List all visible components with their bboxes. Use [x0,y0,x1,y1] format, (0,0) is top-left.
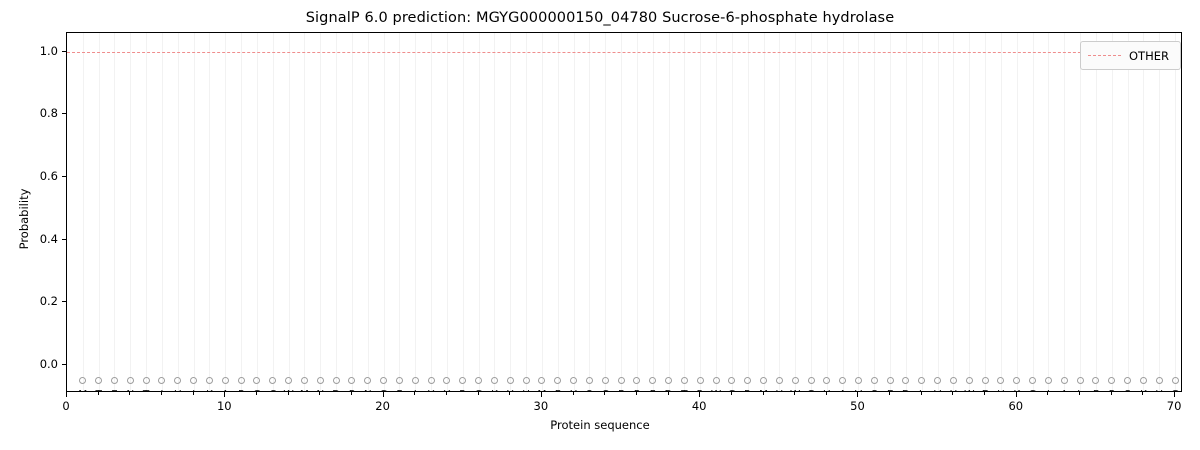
residue-marker [618,377,625,384]
gridline [938,33,939,391]
residue-marker [950,377,957,384]
residue-marker [697,377,704,384]
gridline [1080,33,1081,391]
legend-swatch-other [1088,55,1121,56]
gridline [304,33,305,391]
residue-marker [728,377,735,384]
residue-marker [1029,377,1036,384]
x-tick-label: 70 [1167,399,1182,413]
residue-marker [1156,377,1163,384]
residue-letter: V [855,390,862,392]
x-tick-minor [319,392,320,395]
residue-marker [459,377,466,384]
gridline [1048,33,1049,391]
x-tick-minor [573,392,574,395]
x-tick-minor [478,392,479,395]
x-tick-mark [699,392,700,397]
residue-marker [412,377,419,384]
residue-marker [380,377,387,384]
x-tick-minor [826,392,827,395]
residue-marker [79,377,86,384]
residue-letter: D [664,390,672,392]
x-tick-label: 20 [375,399,390,413]
gridline [114,33,115,391]
residue-marker [744,377,751,384]
gridline [194,33,195,391]
gridline [1033,33,1034,391]
gridline [415,33,416,391]
residue-letter: M [78,390,87,392]
y-tick-mark [62,239,66,240]
residue-letter: G [1029,390,1037,392]
residue-marker [1108,377,1115,384]
residue-letter: Y [570,390,576,392]
residue-letter: G [474,390,482,392]
residue-letter: M [759,390,768,392]
residue-marker [839,377,846,384]
y-tick-mark [62,176,66,177]
residue-letter: F [396,390,402,392]
residue-marker [823,377,830,384]
residue-letter: A [1061,390,1068,392]
y-tick-label: 1.0 [0,44,58,58]
residue-letter: H [174,390,182,392]
residue-letter: P [634,390,640,392]
residue-marker [1140,377,1147,384]
gridline [146,33,147,391]
residue-letter: F [555,390,561,392]
gridline [1096,33,1097,391]
residue-marker [491,377,498,384]
residue-letter: W [283,390,293,392]
residue-letter: D [902,390,910,392]
gridline [811,33,812,391]
residue-letter: K [1140,390,1147,392]
x-tick-mark [383,392,384,397]
gridline [431,33,432,391]
gridline [653,33,654,391]
residue-marker [364,377,371,384]
legend: OTHER [1080,41,1181,70]
residue-marker [808,377,815,384]
residue-letter: K [1013,390,1020,392]
legend-label-other: OTHER [1129,49,1169,63]
y-tick-label: 0.0 [0,357,58,371]
gridline [732,33,733,391]
x-tick-minor [952,392,953,395]
residue-letter: F [618,390,624,392]
gridline [574,33,575,391]
other-probability-line [67,52,1181,53]
residue-letter: R [697,390,704,392]
y-tick-mark [62,51,66,52]
x-tick-label: 10 [217,399,232,413]
gridline [130,33,131,391]
residue-letter: T [143,390,149,392]
residue-letter: H [823,390,831,392]
residue-marker [1061,377,1068,384]
gridline [225,33,226,391]
x-tick-minor [256,392,257,395]
x-tick-mark [541,392,542,397]
gridline [209,33,210,391]
x-tick-label: 40 [692,399,707,413]
residue-letter: H [997,390,1005,392]
gridline [1017,33,1018,391]
x-tick-minor [1047,392,1048,395]
x-tick-minor [604,392,605,395]
gridline [241,33,242,391]
residue-letter: M [300,390,309,392]
residue-marker [997,377,1004,384]
gridline [716,33,717,391]
residue-marker [871,377,878,384]
residue-letter: V [934,390,941,392]
plot-area: MTENTIHIKAPGCWMNDPNGFIYYRGKYHMFYQCFPFDTR… [66,32,1182,392]
residue-letter: C [269,390,276,392]
x-tick-minor [763,392,764,395]
residue-marker [760,377,767,384]
y-tick-mark [62,301,66,302]
gridline [1112,33,1113,391]
gridline [906,33,907,391]
residue-letter: Y [507,390,513,392]
gridline [969,33,970,391]
residue-letter: D [332,390,340,392]
residue-marker [1013,377,1020,384]
gridline [1128,33,1129,391]
residue-marker [253,377,260,384]
gridline [257,33,258,391]
x-tick-minor [984,392,985,395]
x-tick-minor [288,392,289,395]
residue-marker [523,377,530,384]
gridline [1175,33,1176,391]
residue-letter: Q [585,390,593,392]
x-tick-minor [794,392,795,395]
residue-letter: N [126,390,134,392]
residue-letter: G [253,390,261,392]
gridline [748,33,749,391]
residue-marker [887,377,894,384]
x-tick-minor [668,392,669,395]
residue-marker [681,377,688,384]
gridline [99,33,100,391]
residue-marker [301,377,308,384]
residue-letter: T [95,390,101,392]
x-tick-mark [857,392,858,397]
residue-marker [127,377,134,384]
gridline [953,33,954,391]
residue-marker [143,377,150,384]
residue-letter: Y [428,390,434,392]
residue-letter: W [964,390,974,392]
residue-marker [538,377,545,384]
gridline [843,33,844,391]
gridline [479,33,480,391]
gridline [1159,33,1160,391]
residue-letter: G [728,390,736,392]
x-tick-minor [414,392,415,395]
x-tick-minor [921,392,922,395]
residue-marker [792,377,799,384]
x-tick-minor [161,392,162,395]
residue-marker [111,377,118,384]
residue-letter: A [839,390,846,392]
residue-marker [443,377,450,384]
residue-letter: W [711,390,721,392]
x-axis-label: Protein sequence [0,418,1200,432]
residue-letter: T [681,390,687,392]
residue-marker [1045,377,1052,384]
x-tick-mark [1016,392,1017,397]
residue-letter: M [537,390,546,392]
gridline [320,33,321,391]
gridline [178,33,179,391]
residue-marker [174,377,181,384]
residue-letter: E [887,390,894,392]
residue-marker [633,377,640,384]
y-tick-mark [62,364,66,365]
gridline [985,33,986,391]
residue-letter: P [349,390,355,392]
residue-marker [902,377,909,384]
residue-letter: H [522,390,530,392]
residue-marker [396,377,403,384]
gridline [890,33,891,391]
gridline [684,33,685,391]
gridline [447,33,448,391]
residue-marker [649,377,656,384]
gridline [779,33,780,391]
gridline [336,33,337,391]
residue-letter: L [919,390,925,392]
x-tick-label: 50 [850,399,865,413]
residue-marker [602,377,609,384]
residue-marker [554,377,561,384]
residue-marker [934,377,941,384]
gridline [542,33,543,391]
y-tick-mark [62,113,66,114]
residue-marker [776,377,783,384]
x-tick-minor [509,392,510,395]
residue-marker [1124,377,1131,384]
x-tick-minor [351,392,352,395]
residue-marker [348,377,355,384]
residue-letter: F [650,390,656,392]
residue-letter: W [790,390,800,392]
residue-marker [855,377,862,384]
residue-letter: K [491,390,498,392]
residue-letter: L [1077,390,1083,392]
residue-letter: S [1124,390,1131,392]
gridline [162,33,163,391]
residue-letter: H [1155,390,1163,392]
residue-letter: A [222,390,229,392]
gridline [463,33,464,391]
x-tick-minor [193,392,194,395]
gridline [858,33,859,391]
gridline [399,33,400,391]
residue-marker [269,377,276,384]
residue-marker [507,377,514,384]
residue-marker [1172,377,1179,384]
gridline [874,33,875,391]
gridline [1143,33,1144,391]
residue-letter: P [1109,390,1115,392]
gridline [637,33,638,391]
residue-marker [158,377,165,384]
residue-marker [570,377,577,384]
residue-marker [966,377,973,384]
x-tick-minor [889,392,890,395]
residue-marker [586,377,593,384]
residue-letter: G [807,390,815,392]
residue-marker [428,377,435,384]
residue-letter: H [775,390,783,392]
residue-marker [918,377,925,384]
residue-letter: K [206,390,213,392]
x-tick-mark [66,392,67,397]
residue-letter: N [316,390,324,392]
residue-marker [238,377,245,384]
gridline [605,33,606,391]
x-tick-minor [98,392,99,395]
gridline [1001,33,1002,391]
residue-letter: E [111,390,118,392]
gridline [827,33,828,391]
gridline [352,33,353,391]
x-tick-minor [446,392,447,395]
gridline [700,33,701,391]
residue-marker [95,377,102,384]
residue-letter: E [982,390,989,392]
residue-marker [1092,377,1099,384]
gridline [384,33,385,391]
residue-marker [333,377,340,384]
x-tick-minor [731,392,732,395]
residue-letter: H [950,390,958,392]
x-tick-minor [636,392,637,395]
gridline [526,33,527,391]
y-axis-label: Probability [17,99,31,339]
residue-marker [285,377,292,384]
x-tick-mark [1174,392,1175,397]
gridline [510,33,511,391]
x-tick-minor [1079,392,1080,395]
x-tick-label: 60 [1008,399,1023,413]
residue-marker [982,377,989,384]
gridline [922,33,923,391]
residue-marker [206,377,213,384]
gridline [764,33,765,391]
x-tick-minor [1111,392,1112,395]
residue-letter: Y [444,390,450,392]
gridline [273,33,274,391]
gridline [1064,33,1065,391]
residue-letter: F [1093,390,1099,392]
page-title: SignalP 6.0 prediction: MGYG000000150_04… [0,10,1200,26]
residue-marker [475,377,482,384]
residue-marker [222,377,229,384]
x-tick-mark [224,392,225,397]
residue-letter: P [238,390,244,392]
gridline [289,33,290,391]
gridline [494,33,495,391]
residue-letter: G [1171,390,1179,392]
residue-letter: S [871,390,878,392]
residue-marker [665,377,672,384]
gridline [368,33,369,391]
x-tick-label: 0 [62,399,69,413]
gridline [589,33,590,391]
signalp-prediction-figure: SignalP 6.0 prediction: MGYG000000150_04… [0,0,1200,450]
x-tick-minor [1142,392,1143,395]
gridline [83,33,84,391]
gridline [558,33,559,391]
residue-marker [713,377,720,384]
residue-letter: G [380,390,388,392]
residue-letter: R [744,390,751,392]
x-tick-minor [129,392,130,395]
residue-letter: N [364,390,372,392]
gridline [621,33,622,391]
residue-marker [317,377,324,384]
residue-letter: R [459,390,466,392]
residue-marker [1077,377,1084,384]
gridline [669,33,670,391]
residue-marker [190,377,197,384]
residue-letter: C [602,390,609,392]
x-tick-label: 30 [534,399,549,413]
gridline [795,33,796,391]
